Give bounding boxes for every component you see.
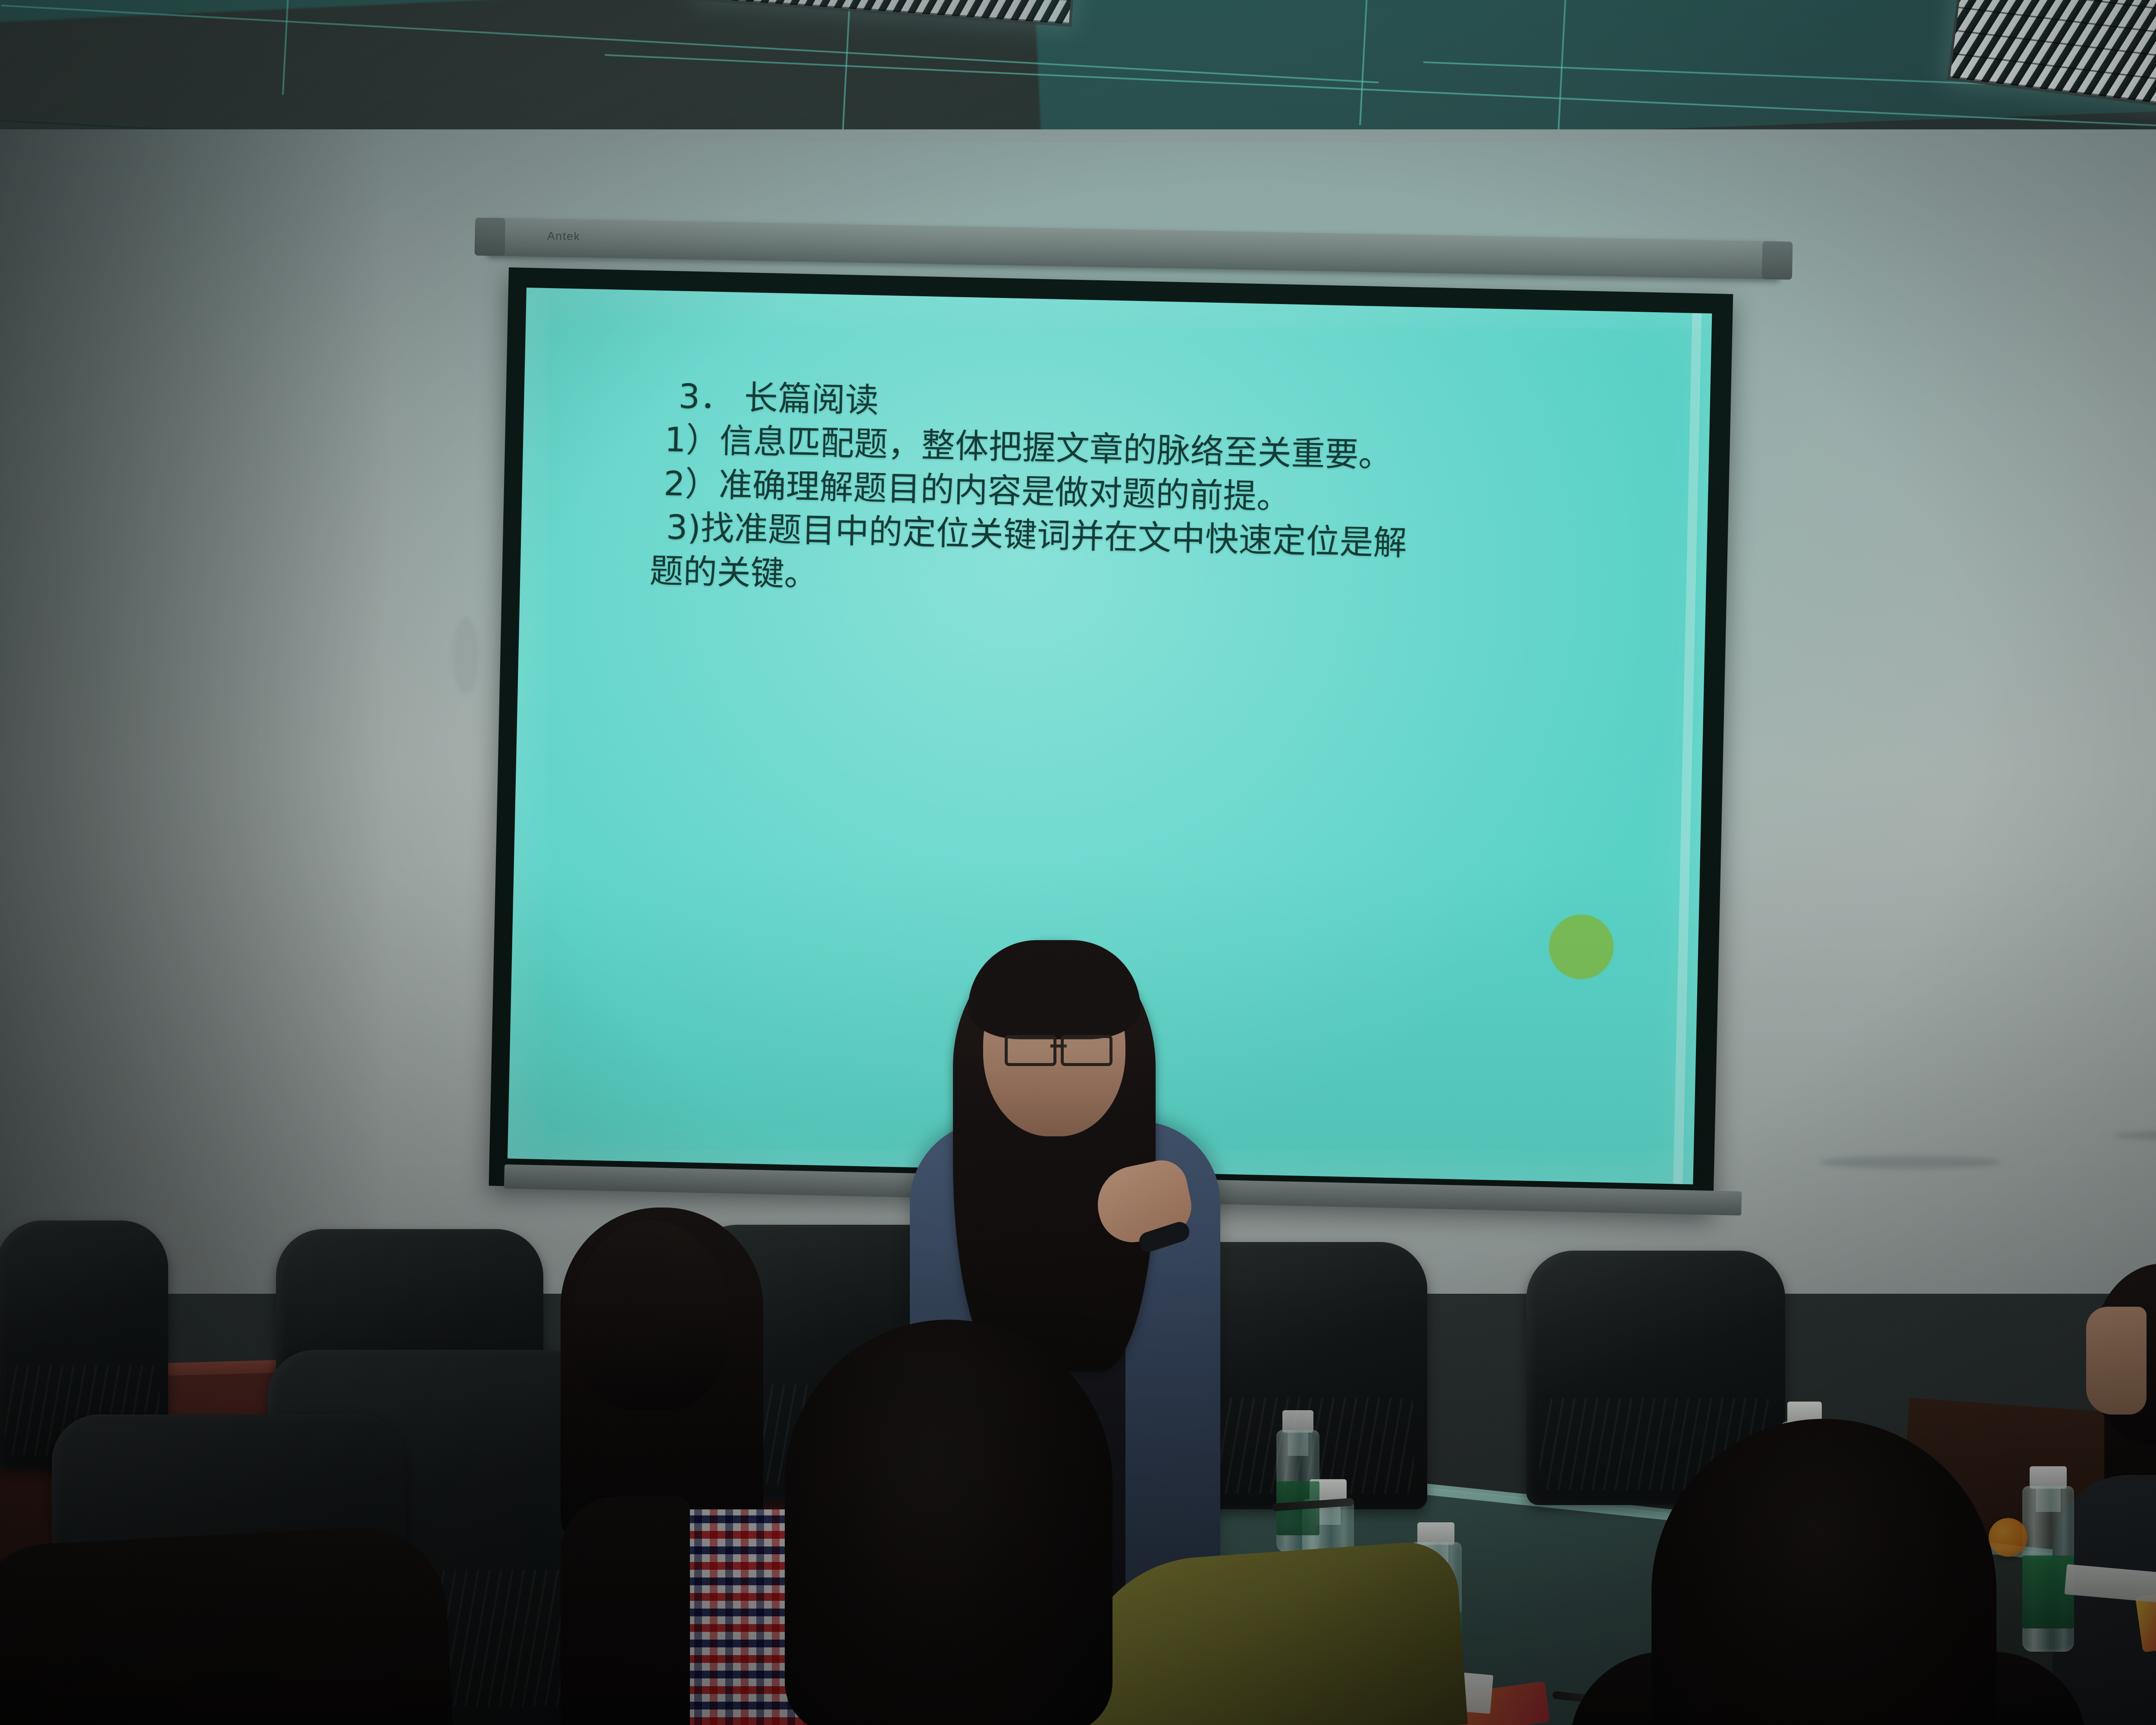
slide-text-block: 3． 长篇阅读 1）信息匹配题，整体把握文章的脉络至关重要。 2）准确理解题目的… xyxy=(649,374,1659,615)
wall-scuff xyxy=(1820,1156,2001,1169)
presenter-bangs xyxy=(968,940,1141,1039)
attendee-foreground-left xyxy=(785,1320,1112,1725)
attendee-plaid-head xyxy=(573,1220,729,1410)
glasses-lens-left xyxy=(1005,1035,1056,1066)
wall-shadow-left xyxy=(0,129,388,1294)
glasses-lens-right xyxy=(1061,1035,1112,1066)
bottle-cap xyxy=(1282,1410,1313,1433)
attendee-plaid-shadow xyxy=(561,1496,690,1725)
attendee-right-face xyxy=(2086,1307,2147,1414)
water-bottle[interactable] xyxy=(2022,1466,2074,1652)
wall-scuff xyxy=(453,617,479,694)
orange-fruit[interactable] xyxy=(1989,1518,2028,1557)
roller-end-cap-left xyxy=(474,217,505,256)
water-bottle[interactable] xyxy=(1276,1410,1319,1552)
bottle-body xyxy=(1276,1430,1319,1552)
screenshot-root: Antek 3． 长篇阅读 1）信息匹配题，整体把握文章的脉络至关重要。 2）准… xyxy=(0,0,2156,1725)
bottle-cap xyxy=(1417,1522,1454,1545)
roller-end-cap-right xyxy=(1762,241,1793,279)
glasses-icon xyxy=(1005,1035,1112,1060)
roller-brand-label: Antek xyxy=(547,229,580,243)
bottle-cap xyxy=(2030,1466,2067,1489)
foreground-dark-mass-left xyxy=(0,1523,454,1725)
